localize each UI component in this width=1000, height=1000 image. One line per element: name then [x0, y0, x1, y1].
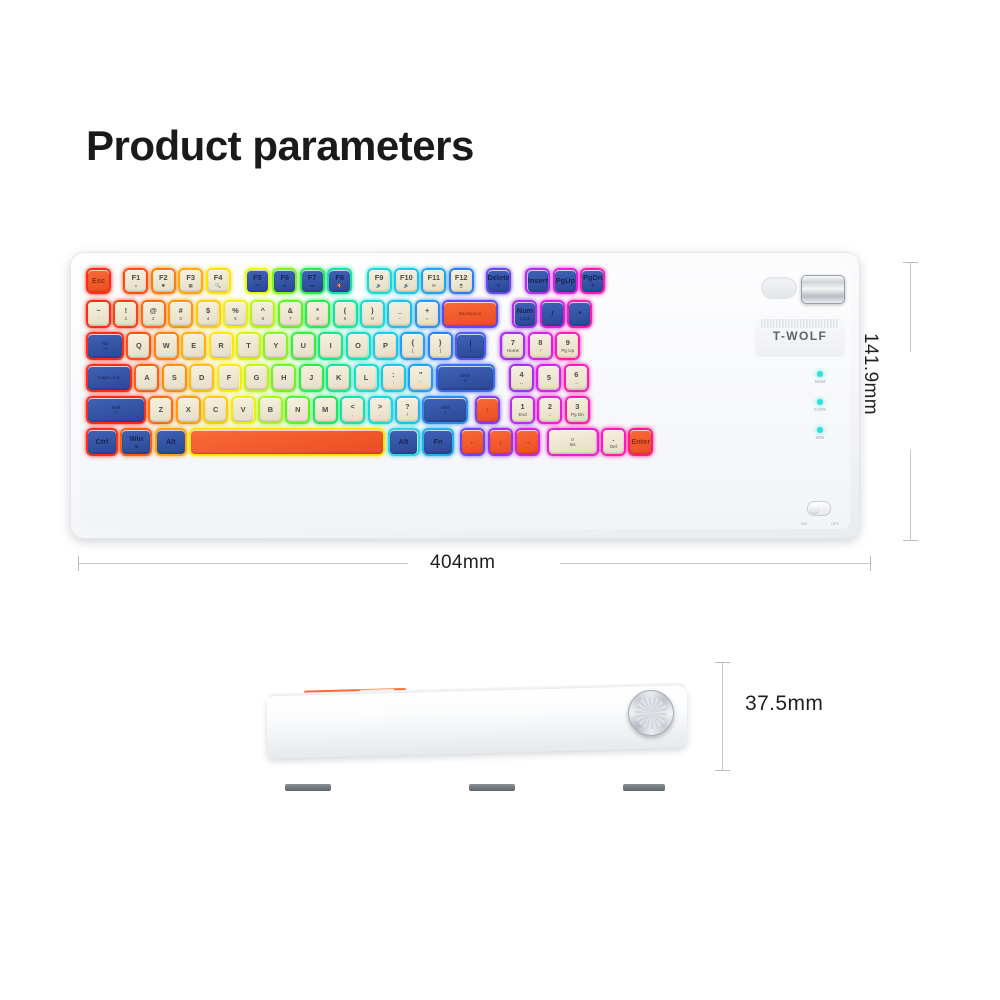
- key-enter[interactable]: Enter: [630, 430, 651, 454]
- key-cell[interactable]: )0: [360, 300, 385, 328]
- key-cell[interactable]: >.: [368, 396, 393, 424]
- key-primary-legend: *: [578, 310, 581, 318]
- key-8[interactable]: 8↑: [530, 334, 551, 358]
- key-cell[interactable]: I: [318, 332, 343, 360]
- knob-slot: [761, 277, 797, 299]
- key-secondary-legend: ⇧: [443, 410, 447, 415]
- key-cell[interactable]: 4←: [509, 364, 534, 392]
- key-primary-legend: :: [392, 371, 394, 379]
- key-cell[interactable]: Fn: [422, 428, 454, 456]
- key-blank[interactable]: $4: [198, 302, 219, 326]
- key-s[interactable]: S: [164, 366, 185, 390]
- key-cell[interactable]: Z: [148, 396, 173, 424]
- key-cell[interactable]: B: [258, 396, 283, 424]
- key-cell[interactable]: Alt: [155, 428, 187, 456]
- key-cell[interactable]: 3Pg Dn: [565, 396, 590, 424]
- key-cell[interactable]: :;: [381, 364, 406, 392]
- key-cell[interactable]: |\: [455, 332, 486, 360]
- key-o[interactable]: O: [348, 334, 369, 358]
- key-secondary-legend: 🔊: [404, 283, 410, 288]
- key-1[interactable]: 1End: [512, 398, 533, 422]
- key-secondary-legend: ]: [440, 348, 441, 353]
- key-n[interactable]: N: [287, 398, 308, 422]
- key-cell[interactable]: _-: [387, 300, 412, 328]
- key-primary-legend: 2: [548, 403, 552, 411]
- key-f10[interactable]: F10🔊: [396, 270, 417, 292]
- key-primary-legend: 7: [511, 339, 515, 347]
- key-f5[interactable]: F5⏮: [247, 270, 268, 292]
- key-gap: [513, 268, 525, 294]
- key-cell[interactable]: R: [209, 332, 234, 360]
- key-e[interactable]: E: [183, 334, 204, 358]
- key-primary-legend: I: [330, 342, 332, 350]
- key-gap: [502, 396, 510, 424]
- key-blank[interactable]: ?/: [397, 398, 418, 422]
- key-d[interactable]: D: [191, 366, 212, 390]
- keyboard-side-view: [255, 655, 700, 785]
- key-primary-legend: M: [322, 406, 328, 414]
- key-k[interactable]: K: [328, 366, 349, 390]
- key-secondary-legend: [: [412, 348, 413, 353]
- key-blank[interactable]: ^6: [252, 302, 273, 326]
- key-secondary-legend: -: [399, 316, 401, 321]
- key-cell[interactable]: Enter⏎: [436, 364, 495, 392]
- rubber-foot-mid: [469, 784, 515, 791]
- key-cell[interactable]: *8: [305, 300, 330, 328]
- key-row-bottom-row: CtrlWin⊞AltAltFn←↓→0Ins.DelEnter: [86, 428, 656, 456]
- key-cell[interactable]: Shift⇧: [422, 396, 468, 424]
- key-caps-lock[interactable]: Caps Lock: [88, 366, 130, 390]
- key-cell[interactable]: C: [203, 396, 228, 424]
- key-blank[interactable]: %5: [225, 302, 246, 326]
- key-cell[interactable]: F8🔇: [327, 268, 352, 294]
- key-tab[interactable]: Tab⇥: [88, 334, 122, 358]
- keyboard-case: EscF1☼F2✹F3▦F4🔍F5⏮F6⏯F7⏭F8🔇F9🔉F10🔊F11✉F1…: [70, 252, 860, 539]
- key-cell[interactable]: A: [134, 364, 159, 392]
- width-dim-cap-right: [870, 556, 871, 571]
- key-f3[interactable]: F3▦: [180, 270, 201, 292]
- key-blank[interactable]: :;: [383, 366, 404, 390]
- key-cell[interactable]: Insert: [525, 268, 550, 294]
- key-blank[interactable]: →: [517, 430, 538, 454]
- key-primary-legend: Insert: [528, 277, 548, 285]
- key-cell[interactable]: P: [373, 332, 398, 360]
- key-primary-legend: Alt: [399, 438, 409, 446]
- key-secondary-legend: 🖱: [460, 283, 463, 288]
- key-primary-legend: F5: [253, 274, 262, 282]
- key-g[interactable]: G: [246, 366, 267, 390]
- key-cell[interactable]: G: [244, 364, 269, 392]
- key-pgdn[interactable]: PgDn✲: [582, 270, 603, 292]
- key-primary-legend: Fn: [433, 438, 442, 446]
- key-f4[interactable]: F4🔍: [208, 270, 229, 292]
- key-blank[interactable]: {[: [402, 334, 423, 358]
- switch-on-label: ON: [801, 521, 807, 526]
- key-primary-legend: G: [254, 374, 260, 382]
- key-secondary-legend: 9: [344, 316, 347, 321]
- key-cell[interactable]: %5: [223, 300, 248, 328]
- key-f2[interactable]: F2✹: [153, 270, 174, 292]
- side-volume-knob[interactable]: [628, 690, 674, 736]
- key-primary-legend: 4: [520, 371, 524, 379]
- key-primary-legend: F7: [308, 274, 317, 282]
- key-h[interactable]: H: [273, 366, 294, 390]
- key-primary-legend: P: [383, 342, 388, 350]
- key-secondary-legend: ⏭: [310, 283, 314, 288]
- key-primary-legend: W: [163, 342, 170, 350]
- key-cell[interactable]: O: [346, 332, 371, 360]
- key-5[interactable]: 5: [539, 366, 560, 390]
- key-secondary-legend: 6: [262, 316, 265, 321]
- power-switch[interactable]: [807, 501, 831, 516]
- key-cell[interactable]: J: [299, 364, 324, 392]
- key-primary-legend: ): [371, 307, 373, 315]
- key-cell[interactable]: F: [217, 364, 242, 392]
- key-num[interactable]: NumLock: [515, 302, 536, 326]
- key-secondary-legend: \: [470, 348, 471, 353]
- key-primary-legend: F12: [455, 274, 468, 282]
- num-lock-led: [817, 371, 823, 377]
- key-blank[interactable]: |\: [457, 334, 484, 358]
- key-cell[interactable]: N: [285, 396, 310, 424]
- key-q[interactable]: Q: [128, 334, 149, 358]
- key-primary-legend: +: [425, 307, 429, 315]
- key-primary-legend: L: [364, 374, 369, 382]
- key-cell[interactable]: [189, 428, 385, 456]
- key-cell[interactable]: Ctrl: [86, 428, 118, 456]
- key-z[interactable]: Z: [150, 398, 171, 422]
- key-secondary-legend: Ins: [569, 442, 575, 447]
- key-primary-legend: Enter: [631, 438, 650, 446]
- key-cell[interactable]: Shift⇧: [86, 396, 146, 424]
- key-primary-legend: .: [612, 435, 614, 443]
- key-cell[interactable]: M: [313, 396, 338, 424]
- key-cell[interactable]: V: [231, 396, 256, 424]
- key-cell[interactable]: H: [271, 364, 296, 392]
- key-cell[interactable]: Tab⇥: [86, 332, 124, 360]
- key-cell[interactable]: E: [181, 332, 206, 360]
- key-v[interactable]: V: [233, 398, 254, 422]
- key-alt[interactable]: Alt: [390, 430, 418, 454]
- key-blank[interactable]: #3: [170, 302, 191, 326]
- key-primary-legend: *: [316, 307, 319, 315]
- key-cell[interactable]: Win⊞: [120, 428, 152, 456]
- key-blank[interactable]: @2: [143, 302, 164, 326]
- key-cell[interactable]: 5: [536, 364, 561, 392]
- key-fn[interactable]: Fn: [424, 430, 452, 454]
- key-cell[interactable]: 1End: [510, 396, 535, 424]
- key-primary-legend: Win: [130, 435, 143, 443]
- key-j[interactable]: J: [301, 366, 322, 390]
- key-blank[interactable]: [191, 430, 383, 454]
- key-secondary-legend: =: [426, 316, 429, 321]
- key-f11[interactable]: F11✉: [423, 270, 444, 292]
- key-cell[interactable]: F1☼: [123, 268, 148, 294]
- key-primary-legend: 9: [566, 339, 570, 347]
- key-i[interactable]: I: [320, 334, 341, 358]
- key-primary-legend: S: [172, 374, 177, 382]
- key-cell[interactable]: &7: [278, 300, 303, 328]
- height-dim-cap-bottom: [903, 540, 918, 541]
- key-blank[interactable]: ↓: [490, 430, 511, 454]
- key-primary-legend: A: [144, 374, 149, 382]
- key-a[interactable]: A: [136, 366, 157, 390]
- key-blank[interactable]: *: [569, 302, 590, 326]
- key-primary-legend: E: [191, 342, 196, 350]
- key-secondary-legend: ,: [352, 412, 353, 417]
- key-cell[interactable]: NumLock: [512, 300, 537, 328]
- key-shift[interactable]: Shift⇧: [88, 398, 144, 422]
- key-blank[interactable]: /: [542, 302, 563, 326]
- key-cell[interactable]: 8↑: [528, 332, 553, 360]
- key-secondary-legend: Del: [610, 444, 617, 449]
- key-insert[interactable]: Insert: [528, 270, 549, 292]
- key-blank[interactable]: }]: [430, 334, 451, 358]
- key-blank[interactable]: ~`: [88, 302, 109, 326]
- key-cell[interactable]: /: [540, 300, 565, 328]
- key-primary-legend: F11: [428, 274, 440, 282]
- key-cell[interactable]: ^6: [250, 300, 275, 328]
- key-blank[interactable]: "': [410, 366, 431, 390]
- key-f12[interactable]: F12🖱: [451, 270, 472, 292]
- key-secondary-legend: ;: [393, 380, 394, 385]
- num-lock-led-label: NUM: [803, 379, 837, 384]
- key-cell[interactable]: 2↓: [537, 396, 562, 424]
- key-blank[interactable]: &7: [280, 302, 301, 326]
- thickness-dim-line: [722, 662, 723, 770]
- key-cell[interactable]: #3: [168, 300, 193, 328]
- key-cell[interactable]: ?/: [395, 396, 420, 424]
- brand-logo: T-WOLF: [773, 329, 827, 343]
- key-cell[interactable]: ↑: [475, 396, 500, 424]
- key-cell[interactable]: F7⏭: [300, 268, 325, 294]
- key-cell[interactable]: 7Home: [500, 332, 525, 360]
- key-gap: [355, 268, 367, 294]
- switch-off-label: OFF: [831, 521, 839, 526]
- key-cell[interactable]: Enter: [628, 428, 653, 456]
- key-blank[interactable]: *8: [307, 302, 328, 326]
- width-dim-line-left: [78, 563, 408, 564]
- key-f8[interactable]: F8🔇: [329, 270, 350, 292]
- key-f[interactable]: F: [219, 366, 240, 390]
- key-secondary-legend: Pg Dn: [571, 412, 584, 417]
- side-knob-texture: [635, 697, 667, 729]
- height-dim-line-bottom: [910, 450, 911, 540]
- speaker-grill-icon: [761, 319, 839, 328]
- key-primary-legend: F8: [335, 274, 344, 282]
- key-backspace[interactable]: Backspace: [444, 302, 496, 326]
- height-dim-line-top: [910, 262, 911, 352]
- key-primary-legend: H: [281, 374, 286, 382]
- key-cell[interactable]: Q: [126, 332, 151, 360]
- key-cell[interactable]: F11✉: [421, 268, 446, 294]
- key-cell[interactable]: X: [176, 396, 201, 424]
- key-primary-legend: Alt: [166, 438, 176, 446]
- rubber-foot-left: [285, 784, 331, 791]
- key-t[interactable]: T: [238, 334, 259, 358]
- key-2[interactable]: 2↓: [540, 398, 561, 422]
- key-pgup[interactable]: PgUp: [555, 270, 576, 292]
- key-primary-legend: K: [336, 374, 341, 382]
- key-primary-legend: F3: [186, 274, 195, 282]
- key-m[interactable]: M: [315, 398, 336, 422]
- key-blank[interactable]: ←: [462, 430, 483, 454]
- key-w[interactable]: W: [156, 334, 177, 358]
- key-secondary-legend: ↑: [539, 348, 541, 353]
- key-cell[interactable]: "': [408, 364, 433, 392]
- key-primary-legend: F9: [375, 274, 384, 282]
- key-cell[interactable]: Backspace: [442, 300, 498, 328]
- key-primary-legend: U: [301, 342, 306, 350]
- key-secondary-legend: ': [420, 380, 421, 385]
- key-cell[interactable]: .Del: [601, 428, 626, 456]
- key-6[interactable]: 6→: [566, 366, 587, 390]
- key-blank[interactable]: )0: [362, 302, 383, 326]
- key-y[interactable]: Y: [265, 334, 286, 358]
- key-primary-legend: N: [295, 406, 300, 414]
- key-ctrl[interactable]: Ctrl: [88, 430, 116, 454]
- key-primary-legend: Caps Lock: [98, 375, 120, 380]
- key-9[interactable]: 9Pg Up: [557, 334, 578, 358]
- key-cell[interactable]: (9: [333, 300, 358, 328]
- width-dimension-label: 404mm: [430, 552, 495, 574]
- key-blank[interactable]: (9: [335, 302, 356, 326]
- key-secondary-legend: ▦: [189, 283, 193, 288]
- key-primary-legend: !: [125, 307, 127, 315]
- key-secondary-legend: 🔉: [376, 283, 382, 288]
- key-win[interactable]: Win⊞: [122, 430, 150, 454]
- key-blank[interactable]: .Del: [603, 430, 624, 454]
- key-cell[interactable]: Y: [263, 332, 288, 360]
- key-blank[interactable]: !1: [115, 302, 136, 326]
- key-3[interactable]: 3Pg Dn: [567, 398, 588, 422]
- key-cell[interactable]: F9🔉: [367, 268, 392, 294]
- key-row-shift-row: Shift⇧ZXCVBNM<,>.?/Shift⇧↑1End2↓3Pg Dn: [86, 396, 592, 424]
- key-cell[interactable]: W: [154, 332, 179, 360]
- key-cell[interactable]: 6→: [564, 364, 589, 392]
- key-f1[interactable]: F1☼: [125, 270, 146, 292]
- key-cell[interactable]: $4: [196, 300, 221, 328]
- key-shift[interactable]: Shift⇧: [424, 398, 466, 422]
- key-secondary-legend: 1: [125, 316, 128, 321]
- key-blank[interactable]: +=: [417, 302, 438, 326]
- key-cell[interactable]: Caps Lock: [86, 364, 132, 392]
- key-7[interactable]: 7Home: [503, 334, 524, 358]
- key-f7[interactable]: F7⏭: [302, 270, 323, 292]
- key-esc[interactable]: Esc: [88, 270, 109, 292]
- key-cell[interactable]: Alt: [388, 428, 420, 456]
- key-blank[interactable]: ↑: [477, 398, 498, 422]
- key-r[interactable]: R: [211, 334, 232, 358]
- key-cell[interactable]: 9Pg Up: [555, 332, 580, 360]
- key-secondary-legend: ✲: [591, 283, 595, 288]
- key-cell[interactable]: {[: [400, 332, 425, 360]
- key-secondary-legend: End: [518, 412, 526, 417]
- key-primary-legend: 5: [547, 374, 551, 382]
- volume-knob[interactable]: [801, 275, 845, 304]
- thickness-dimension-label: 37.5mm: [745, 692, 823, 716]
- key-cell[interactable]: <,: [340, 396, 365, 424]
- key-cell[interactable]: S: [162, 364, 187, 392]
- key-primary-legend: 8: [538, 339, 542, 347]
- caps-lock-led-label: CAPS: [803, 407, 837, 412]
- key-cell[interactable]: D: [189, 364, 214, 392]
- key-cell[interactable]: F5⏮: [245, 268, 270, 294]
- key-primary-legend: &: [288, 307, 293, 315]
- key-blank[interactable]: <,: [342, 398, 363, 422]
- thickness-dim-cap-top: [715, 662, 730, 663]
- key-cell[interactable]: F4🔍: [206, 268, 231, 294]
- key-cell[interactable]: @2: [141, 300, 166, 328]
- key-f9[interactable]: F9🔉: [369, 270, 390, 292]
- key-cell[interactable]: +=: [415, 300, 440, 328]
- key-u[interactable]: U: [293, 334, 314, 358]
- key-gap: [233, 268, 245, 294]
- key-cell[interactable]: ↓: [488, 428, 513, 456]
- key-cell[interactable]: Delete✲: [486, 268, 511, 294]
- key-enter[interactable]: Enter⏎: [438, 366, 493, 390]
- thickness-dim-cap-bottom: [715, 770, 730, 771]
- key-l[interactable]: L: [356, 366, 377, 390]
- key-delete[interactable]: Delete✲: [488, 270, 509, 292]
- key-secondary-legend: 4: [207, 316, 210, 321]
- key-alt[interactable]: Alt: [157, 430, 185, 454]
- key-primary-legend: ↓: [498, 438, 502, 446]
- key-cell[interactable]: →: [515, 428, 540, 456]
- key-0[interactable]: 0Ins: [549, 430, 597, 454]
- key-primary-legend: >: [378, 403, 382, 411]
- key-secondary-legend: 2: [152, 316, 155, 321]
- brand-plate: T-WOLF: [755, 315, 845, 357]
- key-cell[interactable]: F12🖱: [449, 268, 474, 294]
- width-dim-cap-left: [78, 556, 79, 571]
- key-cell[interactable]: F10🔊: [394, 268, 419, 294]
- key-c[interactable]: C: [205, 398, 226, 422]
- key-primary-legend: T: [246, 342, 251, 350]
- page-title: Product parameters: [86, 122, 474, 170]
- key-cell[interactable]: PgUp: [553, 268, 578, 294]
- key-cell[interactable]: ~`: [86, 300, 111, 328]
- key-cell[interactable]: F6⏯: [272, 268, 297, 294]
- win-lock-led-label: WIN: [803, 435, 837, 440]
- key-cell[interactable]: !1: [113, 300, 138, 328]
- key-cell[interactable]: ←: [460, 428, 485, 456]
- key-f6[interactable]: F6⏯: [274, 270, 295, 292]
- key-primary-legend: Delete: [488, 274, 509, 282]
- key-primary-legend: Z: [159, 406, 164, 414]
- key-cell[interactable]: F2✹: [151, 268, 176, 294]
- key-cell[interactable]: L: [354, 364, 379, 392]
- key-blank[interactable]: _-: [389, 302, 410, 326]
- height-dimension-label: 141.9mm: [859, 333, 881, 473]
- key-4[interactable]: 4←: [511, 366, 532, 390]
- key-cell[interactable]: T: [236, 332, 261, 360]
- key-cell[interactable]: K: [326, 364, 351, 392]
- key-p[interactable]: P: [375, 334, 396, 358]
- key-secondary-legend: ☼: [134, 283, 138, 288]
- key-blank[interactable]: >.: [370, 398, 391, 422]
- key-cell[interactable]: 0Ins: [547, 428, 599, 456]
- key-cell[interactable]: Esc: [86, 268, 111, 294]
- key-cell[interactable]: }]: [428, 332, 453, 360]
- key-x[interactable]: X: [178, 398, 199, 422]
- key-cell[interactable]: PgDn✲: [580, 268, 605, 294]
- key-b[interactable]: B: [260, 398, 281, 422]
- side-case: [267, 686, 687, 759]
- key-cell[interactable]: *: [567, 300, 592, 328]
- key-cell[interactable]: F3▦: [178, 268, 203, 294]
- key-cell[interactable]: U: [291, 332, 316, 360]
